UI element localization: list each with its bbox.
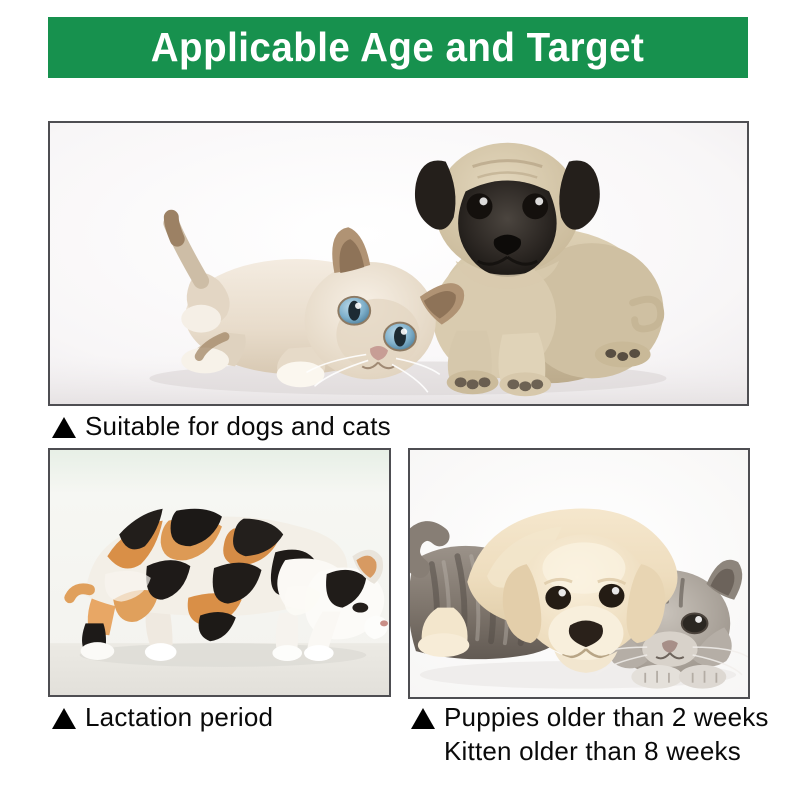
golden-puppy-and-tabby-kitten-photo <box>408 448 750 699</box>
caption-puppies-and-kitten-age: Puppies older than 2 weeks Kitten older … <box>411 700 769 768</box>
caption-line: Lactation period <box>85 700 273 734</box>
photo-illustration-top <box>50 123 747 404</box>
triangle-bullet-icon <box>52 708 76 729</box>
photo-illustration-bottom-right <box>410 450 748 697</box>
caption-line: Puppies older than 2 weeks <box>444 700 769 734</box>
calico-cat-walking-photo <box>48 448 391 697</box>
triangle-bullet-icon <box>411 708 435 729</box>
header-banner: Applicable Age and Target <box>48 17 748 78</box>
caption-text-group: Lactation period <box>85 700 273 734</box>
pug-puppy-and-siamese-kitten-photo <box>48 121 749 406</box>
caption-line: Kitten older than 8 weeks <box>444 734 769 768</box>
page-title: Applicable Age and Target <box>151 27 645 68</box>
caption-lactation-period: Lactation period <box>52 700 273 734</box>
caption-line: Suitable for dogs and cats <box>85 409 391 443</box>
caption-text-group: Puppies older than 2 weeks Kitten older … <box>444 700 769 768</box>
triangle-bullet-icon <box>52 417 76 438</box>
caption-text-group: Suitable for dogs and cats <box>85 409 391 443</box>
photo-illustration-bottom-left <box>50 450 389 695</box>
caption-suitable-for-dogs-and-cats: Suitable for dogs and cats <box>52 409 391 443</box>
